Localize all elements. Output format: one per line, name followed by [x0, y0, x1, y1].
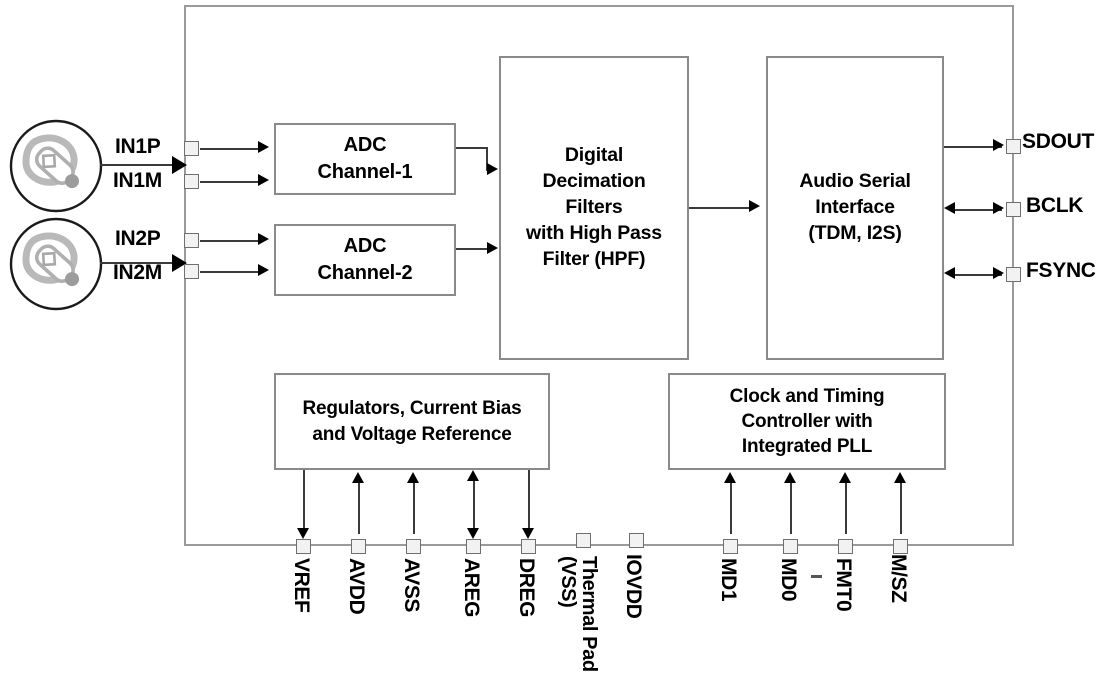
pin-vref[interactable]	[296, 539, 311, 554]
arrowhead-m-sz	[894, 472, 906, 483]
arrowhead-in1p-adc1	[258, 141, 269, 153]
wire-in2p-adc2	[200, 240, 260, 242]
pin-label-avss: AVSS	[399, 558, 423, 612]
pin-label-avdd: AVDD	[344, 558, 368, 614]
wire-fmt0	[845, 482, 847, 534]
pin-sdout[interactable]	[1006, 139, 1021, 154]
wire-avdd	[358, 482, 360, 534]
wire-avss	[413, 482, 415, 534]
pin-label-md1: MD1	[716, 558, 740, 601]
pin-label-areg: AREG	[459, 558, 483, 617]
pin-thermal-pad[interactable]	[576, 533, 591, 548]
arrowhead-areg-down	[467, 528, 479, 539]
input-label-in1m: IN1M	[113, 169, 162, 193]
pin-md1[interactable]	[723, 539, 738, 554]
pin-areg[interactable]	[466, 539, 481, 554]
arrowhead-avdd	[352, 472, 364, 483]
pin-label-bclk: BCLK	[1026, 194, 1083, 218]
wire-filters-asi	[689, 207, 751, 209]
pin-label-vref: VREF	[289, 558, 313, 612]
arrowhead-in2m-adc2	[258, 264, 269, 276]
wire-adc2-filters	[456, 248, 488, 250]
arrowhead-vref	[297, 528, 309, 539]
block-regulators-current-bias-voltage-reference[interactable]: Regulators, Current Bias and Voltage Ref…	[274, 373, 550, 470]
microphone-icon	[8, 118, 104, 214]
pin-label-md0: MD0	[776, 558, 800, 601]
pin-label-thermal-pad: Thermal Pad (VSS)	[557, 556, 599, 672]
pin-label-fsync: FSYNC	[1026, 259, 1096, 283]
arrowhead-adc1-filters	[487, 163, 498, 175]
block-adc-channel-2[interactable]: ADC Channel-2	[274, 224, 456, 296]
pin-label-m-sz: M/SZ	[886, 554, 910, 603]
input-label-in2p: IN2P	[115, 227, 161, 251]
wire-areg	[473, 478, 475, 532]
arrowhead-avss	[407, 472, 419, 483]
arrowhead-in1m-adc1	[258, 174, 269, 186]
pin-avdd[interactable]	[351, 539, 366, 554]
arrowhead-in2p-adc2	[258, 233, 269, 245]
pin-md0[interactable]	[783, 539, 798, 554]
wire-md1	[730, 482, 732, 534]
block-audio-serial-interface[interactable]: Audio Serial Interface (TDM, I2S)	[766, 56, 944, 360]
pin-bclk[interactable]	[1006, 202, 1021, 217]
arrowhead-fmt0	[839, 472, 851, 483]
block-diagram-canvas: IN1P IN1M IN2P IN2M ADC Channel-1 ADC Ch…	[0, 0, 1100, 696]
block-digital-decimation-filters[interactable]: Digital Decimation Filters with High Pas…	[499, 56, 689, 360]
wire-m-sz	[900, 482, 902, 534]
wire-dreg	[528, 470, 530, 532]
pin-in1m[interactable]	[184, 174, 199, 189]
pin-dreg[interactable]	[521, 539, 536, 554]
arrowhead-bclk-out	[944, 202, 955, 214]
input-label-in2m: IN2M	[113, 261, 162, 285]
wire-in1p-adc1	[200, 148, 260, 150]
arrowhead-fsync-out	[944, 267, 955, 279]
arrowhead-dreg	[522, 528, 534, 539]
separator-dash	[811, 575, 822, 578]
wire-md0	[790, 482, 792, 534]
arrowhead-filters-asi	[749, 200, 760, 212]
pin-in2p[interactable]	[184, 233, 199, 248]
pin-in2m[interactable]	[184, 264, 199, 279]
pin-in1p[interactable]	[184, 141, 199, 156]
pin-m-sz[interactable]	[893, 539, 908, 554]
arrowhead-bclk-in	[993, 202, 1004, 214]
arrowhead-areg-up	[467, 470, 479, 481]
pin-label-iovdd: IOVDD	[621, 554, 645, 619]
arrowhead-sdout	[993, 139, 1004, 151]
arrowhead-adc2-filters	[487, 242, 498, 254]
pin-label-fmt0: FMT0	[831, 558, 855, 611]
pin-fsync[interactable]	[1006, 267, 1021, 282]
pin-avss[interactable]	[406, 539, 421, 554]
block-adc-channel-1[interactable]: ADC Channel-1	[274, 123, 456, 195]
arrowhead-md0	[784, 472, 796, 483]
wire-in1m-adc1	[200, 181, 260, 183]
wire-vref	[303, 470, 305, 532]
mic1-arrowhead	[172, 156, 187, 174]
pin-label-dreg: DREG	[514, 558, 538, 617]
input-label-in1p: IN1P	[115, 135, 161, 159]
arrowhead-fsync-in	[993, 267, 1004, 279]
block-clock-timing-controller[interactable]: Clock and Timing Controller with Integra…	[668, 373, 946, 470]
mic1-connection-wire	[100, 164, 178, 166]
arrowhead-md1	[724, 472, 736, 483]
pin-fmt0[interactable]	[838, 539, 853, 554]
wire-adc1-filters	[456, 147, 488, 149]
microphone-icon	[8, 216, 104, 312]
pin-label-sdout: SDOUT	[1022, 130, 1094, 154]
pin-iovdd[interactable]	[629, 533, 644, 548]
wire-in2m-adc2	[200, 271, 260, 273]
